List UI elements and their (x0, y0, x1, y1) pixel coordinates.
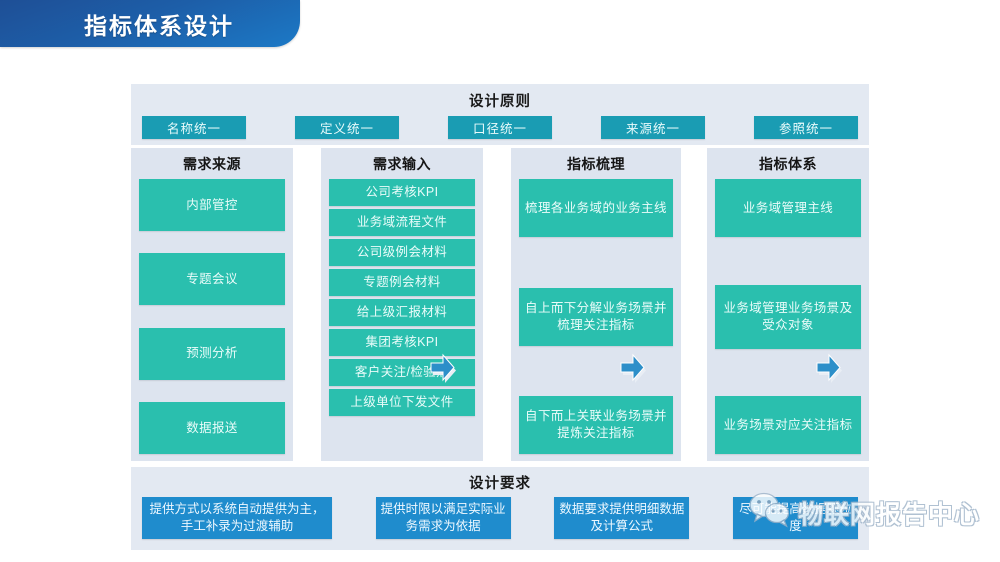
column-demand-input: 需求输入 公司考核KPI 业务域流程文件 公司级例会材料 专题例会材料 给上级汇… (321, 148, 483, 461)
page-title: 指标体系设计 (84, 7, 234, 41)
column-indicator-system: 指标体系 业务域管理主线 业务域管理业务场景及受众对象 业务场景对应关注指标 (707, 148, 869, 461)
watermark: 物联网报告中心 (748, 492, 980, 533)
column-title-demand-source: 需求来源 (139, 148, 285, 179)
process-columns: 需求来源 内部管控 专题会议 预测分析 数据报送 需求输入 公司考核KPI 业务… (131, 148, 869, 461)
card-superior-issued-document[interactable]: 上级单位下发文件 (329, 389, 475, 416)
card-domain-scenario-audience[interactable]: 业务域管理业务场景及受众对象 (715, 285, 861, 349)
principle-chip-reference-unified[interactable]: 参照统一 (754, 116, 858, 139)
column-demand-input-cards: 公司考核KPI 业务域流程文件 公司级例会材料 专题例会材料 给上级汇报材料 集… (329, 179, 475, 461)
indicator-system-diagram: 设计原则 名称统一 定义统一 口径统一 来源统一 参照统一 需求来源 内部管控 … (131, 84, 869, 550)
principle-chip-name-unified[interactable]: 名称统一 (142, 116, 246, 139)
requirement-chip-provision-method[interactable]: 提供方式以系统自动提供为主，手工补录为过渡辅助 (142, 497, 332, 539)
column-demand-source-cards: 内部管控 专题会议 预测分析 数据报送 (139, 179, 285, 461)
card-top-down-decompose[interactable]: 自上而下分解业务场景并梳理关注指标 (519, 288, 673, 346)
watermark-text: 物联网报告中心 (798, 495, 980, 531)
column-demand-source: 需求来源 内部管控 专题会议 预测分析 数据报送 (131, 148, 293, 461)
column-indicator-sorting-cards: 梳理各业务域的业务主线 自上而下分解业务场景并梳理关注指标 自下而上关联业务场景… (519, 179, 673, 461)
card-domain-management-mainline[interactable]: 业务域管理主线 (715, 179, 861, 237)
card-scenario-focus-indicator[interactable]: 业务场景对应关注指标 (715, 396, 861, 454)
design-requirements-title: 设计要求 (131, 467, 869, 493)
card-forecast-analysis[interactable]: 预测分析 (139, 328, 285, 380)
wechat-icon (748, 492, 792, 533)
principle-chip-definition-unified[interactable]: 定义统一 (295, 116, 399, 139)
card-topic-meeting[interactable]: 专题会议 (139, 253, 285, 305)
card-data-submission[interactable]: 数据报送 (139, 402, 285, 454)
requirement-chip-data-detail[interactable]: 数据要求提供明细数据及计算公式 (554, 497, 689, 539)
arrow-right-icon (428, 351, 456, 384)
card-sort-business-mainline[interactable]: 梳理各业务域的业务主线 (519, 179, 673, 237)
card-internal-control[interactable]: 内部管控 (139, 179, 285, 231)
card-company-kpi[interactable]: 公司考核KPI (329, 179, 475, 206)
column-title-indicator-system: 指标体系 (715, 148, 861, 179)
column-title-demand-input: 需求输入 (329, 148, 475, 179)
card-topic-meeting-material[interactable]: 专题例会材料 (329, 269, 475, 296)
column-indicator-sorting: 指标梳理 梳理各业务域的业务主线 自上而下分解业务场景并梳理关注指标 自下而上关… (511, 148, 681, 461)
column-title-indicator-sorting: 指标梳理 (519, 148, 673, 179)
requirement-chip-provision-deadline[interactable]: 提供时限以满足实际业务需求为依据 (376, 497, 511, 539)
page-title-banner: 指标体系设计 (0, 0, 300, 47)
principle-chip-source-unified[interactable]: 来源统一 (601, 116, 705, 139)
design-principles-title: 设计原则 (131, 84, 869, 111)
card-report-to-superior-material[interactable]: 给上级汇报材料 (329, 299, 475, 326)
arrow-right-icon (618, 351, 646, 384)
column-indicator-system-cards: 业务域管理主线 业务域管理业务场景及受众对象 业务场景对应关注指标 (715, 179, 861, 461)
design-principles-section: 设计原则 名称统一 定义统一 口径统一 来源统一 参照统一 (131, 84, 869, 145)
design-principles-chip-row: 名称统一 定义统一 口径统一 来源统一 参照统一 (131, 111, 869, 139)
arrow-right-icon (814, 351, 842, 384)
card-company-regular-meeting-material[interactable]: 公司级例会材料 (329, 239, 475, 266)
card-bottom-up-associate[interactable]: 自下而上关联业务场景并提炼关注指标 (519, 396, 673, 454)
principle-chip-caliber-unified[interactable]: 口径统一 (448, 116, 552, 139)
card-business-domain-process-doc[interactable]: 业务域流程文件 (329, 209, 475, 236)
